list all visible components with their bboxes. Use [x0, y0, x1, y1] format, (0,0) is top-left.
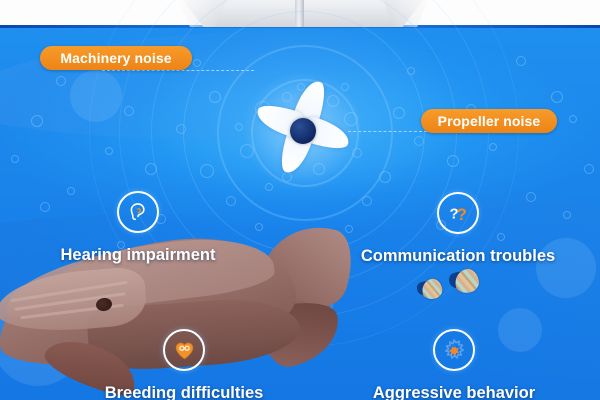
effect-communication-label: Communication troubles	[361, 247, 555, 266]
bubble	[200, 164, 214, 178]
infographic-scene: Machinery noise Propeller noise Hearing …	[0, 0, 600, 400]
effect-breeding-difficulties[interactable]: Breeding difficulties	[100, 329, 268, 400]
propeller-hub	[290, 118, 316, 144]
angelfish-illustration	[420, 276, 446, 302]
effect-communication-troubles[interactable]: ? ? Communication troubles	[372, 192, 544, 266]
bubble	[40, 202, 50, 212]
bubble	[124, 106, 134, 116]
bubble	[105, 147, 113, 155]
effect-breeding-label: Breeding difficulties	[105, 384, 264, 400]
badge-propeller-noise[interactable]: Propeller noise	[421, 109, 557, 133]
bubble	[235, 123, 243, 131]
badge-propeller-label: Propeller noise	[438, 113, 541, 129]
effect-hearing-label: Hearing impairment	[61, 246, 216, 265]
bubble	[584, 164, 594, 174]
bubble	[56, 76, 66, 86]
bubble	[447, 155, 459, 167]
effect-aggression-label: Aggressive behavior	[373, 384, 535, 400]
bubble	[393, 107, 405, 119]
ear-icon	[117, 191, 159, 233]
bubble	[176, 124, 186, 134]
badge-machinery-noise[interactable]: Machinery noise	[40, 46, 192, 70]
bubble	[265, 183, 273, 191]
bubble-soft	[70, 70, 122, 122]
starburst-icon	[433, 329, 475, 371]
bubble	[145, 163, 157, 175]
effect-aggressive-behavior[interactable]: Aggressive behavior	[366, 329, 542, 400]
bubble	[362, 196, 372, 206]
bubble	[414, 136, 424, 146]
bubble	[407, 67, 415, 75]
bubble	[31, 115, 43, 127]
bubble	[226, 196, 236, 206]
bubble	[193, 59, 201, 67]
bubble	[379, 171, 391, 183]
bubble	[345, 225, 353, 233]
bubble	[209, 91, 221, 103]
bubble	[516, 56, 526, 66]
effect-hearing-impairment[interactable]: Hearing impairment	[54, 191, 222, 265]
bubble	[551, 91, 563, 103]
angelfish-illustration	[453, 266, 484, 297]
bubble	[11, 155, 19, 163]
heart-icon	[163, 329, 205, 371]
bubble	[569, 115, 577, 123]
leader-line-machinery	[102, 70, 254, 71]
propeller-shaft	[295, 0, 304, 27]
svg-text:?: ?	[457, 205, 467, 224]
badge-machinery-label: Machinery noise	[60, 50, 171, 66]
bubble	[563, 211, 571, 219]
question-mark-icon: ? ?	[437, 192, 479, 234]
bubble	[489, 143, 497, 151]
